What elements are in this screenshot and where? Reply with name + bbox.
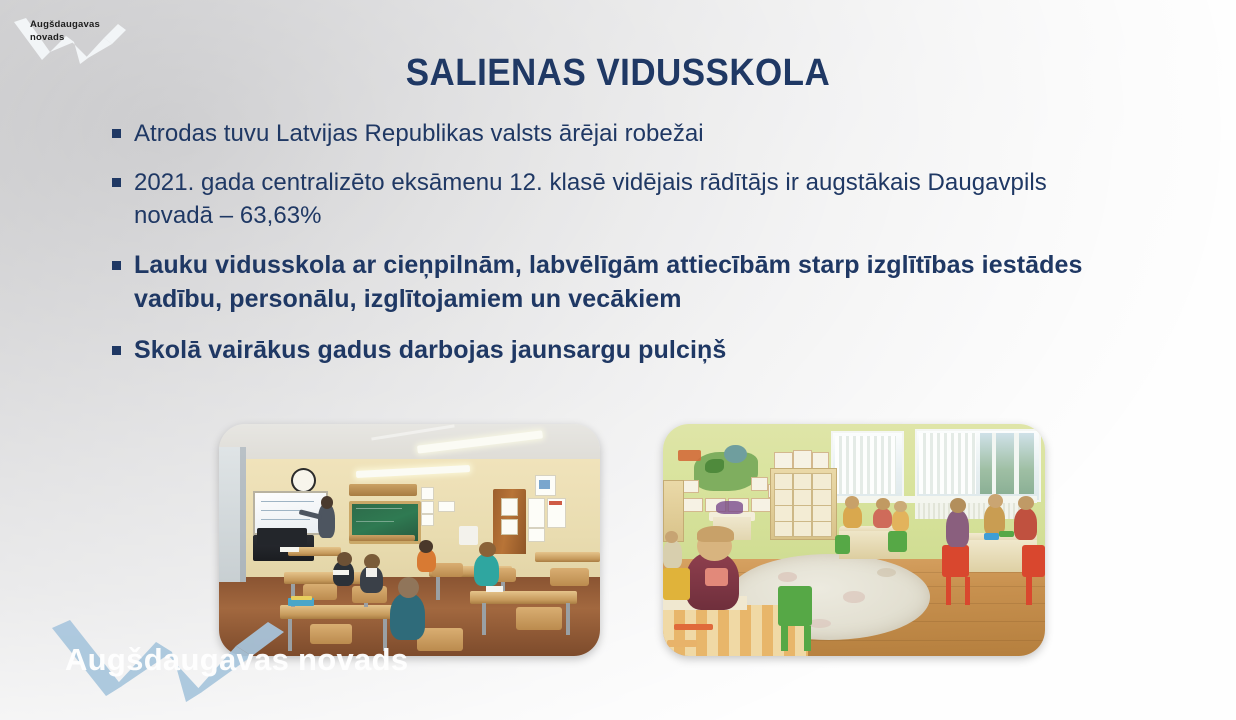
bullet-item-2: 2021. gada centralizēto eksāmenu 12. kla… [112,167,1097,232]
bullet-square-icon [112,346,121,355]
bullet-item-3: Lauku vidusskola ar cieņpilnām, labvēlīg… [112,249,1097,317]
slide-canvas: Augšdaugavas novads SALIENAS VIDUSSKOLA … [0,0,1236,720]
photo-kindergarten [663,424,1045,656]
footer-watermark-text: Augšdaugavas novads [65,642,408,678]
bullet-square-icon [112,261,121,270]
kindergarten-scene [663,424,1045,656]
logo-text-line2: novads [30,32,64,43]
bullet-text-1: Atrodas tuvu Latvijas Republikas valsts … [134,118,1097,150]
bullet-square-icon [112,178,121,187]
bullet-text-4: Skolā vairākus gadus darbojas jaunsargu … [134,334,1097,368]
bullet-text-2: 2021. gada centralizēto eksāmenu 12. kla… [134,167,1097,232]
bullet-list: Atrodas tuvu Latvijas Republikas valsts … [112,118,1097,384]
page-title: SALIENAS VIDUSSKOLA [49,52,1186,95]
bullet-square-icon [112,129,121,138]
bullet-text-3: Lauku vidusskola ar cieņpilnām, labvēlīg… [134,249,1097,317]
logo-text-line1: Augšdaugavas [30,19,100,30]
logo-text: Augšdaugavas novads [30,19,110,44]
bullet-item-4: Skolā vairākus gadus darbojas jaunsargu … [112,334,1097,368]
footer-watermark: Augšdaugavas novads [10,600,430,710]
bullet-item-1: Atrodas tuvu Latvijas Republikas valsts … [112,118,1097,150]
